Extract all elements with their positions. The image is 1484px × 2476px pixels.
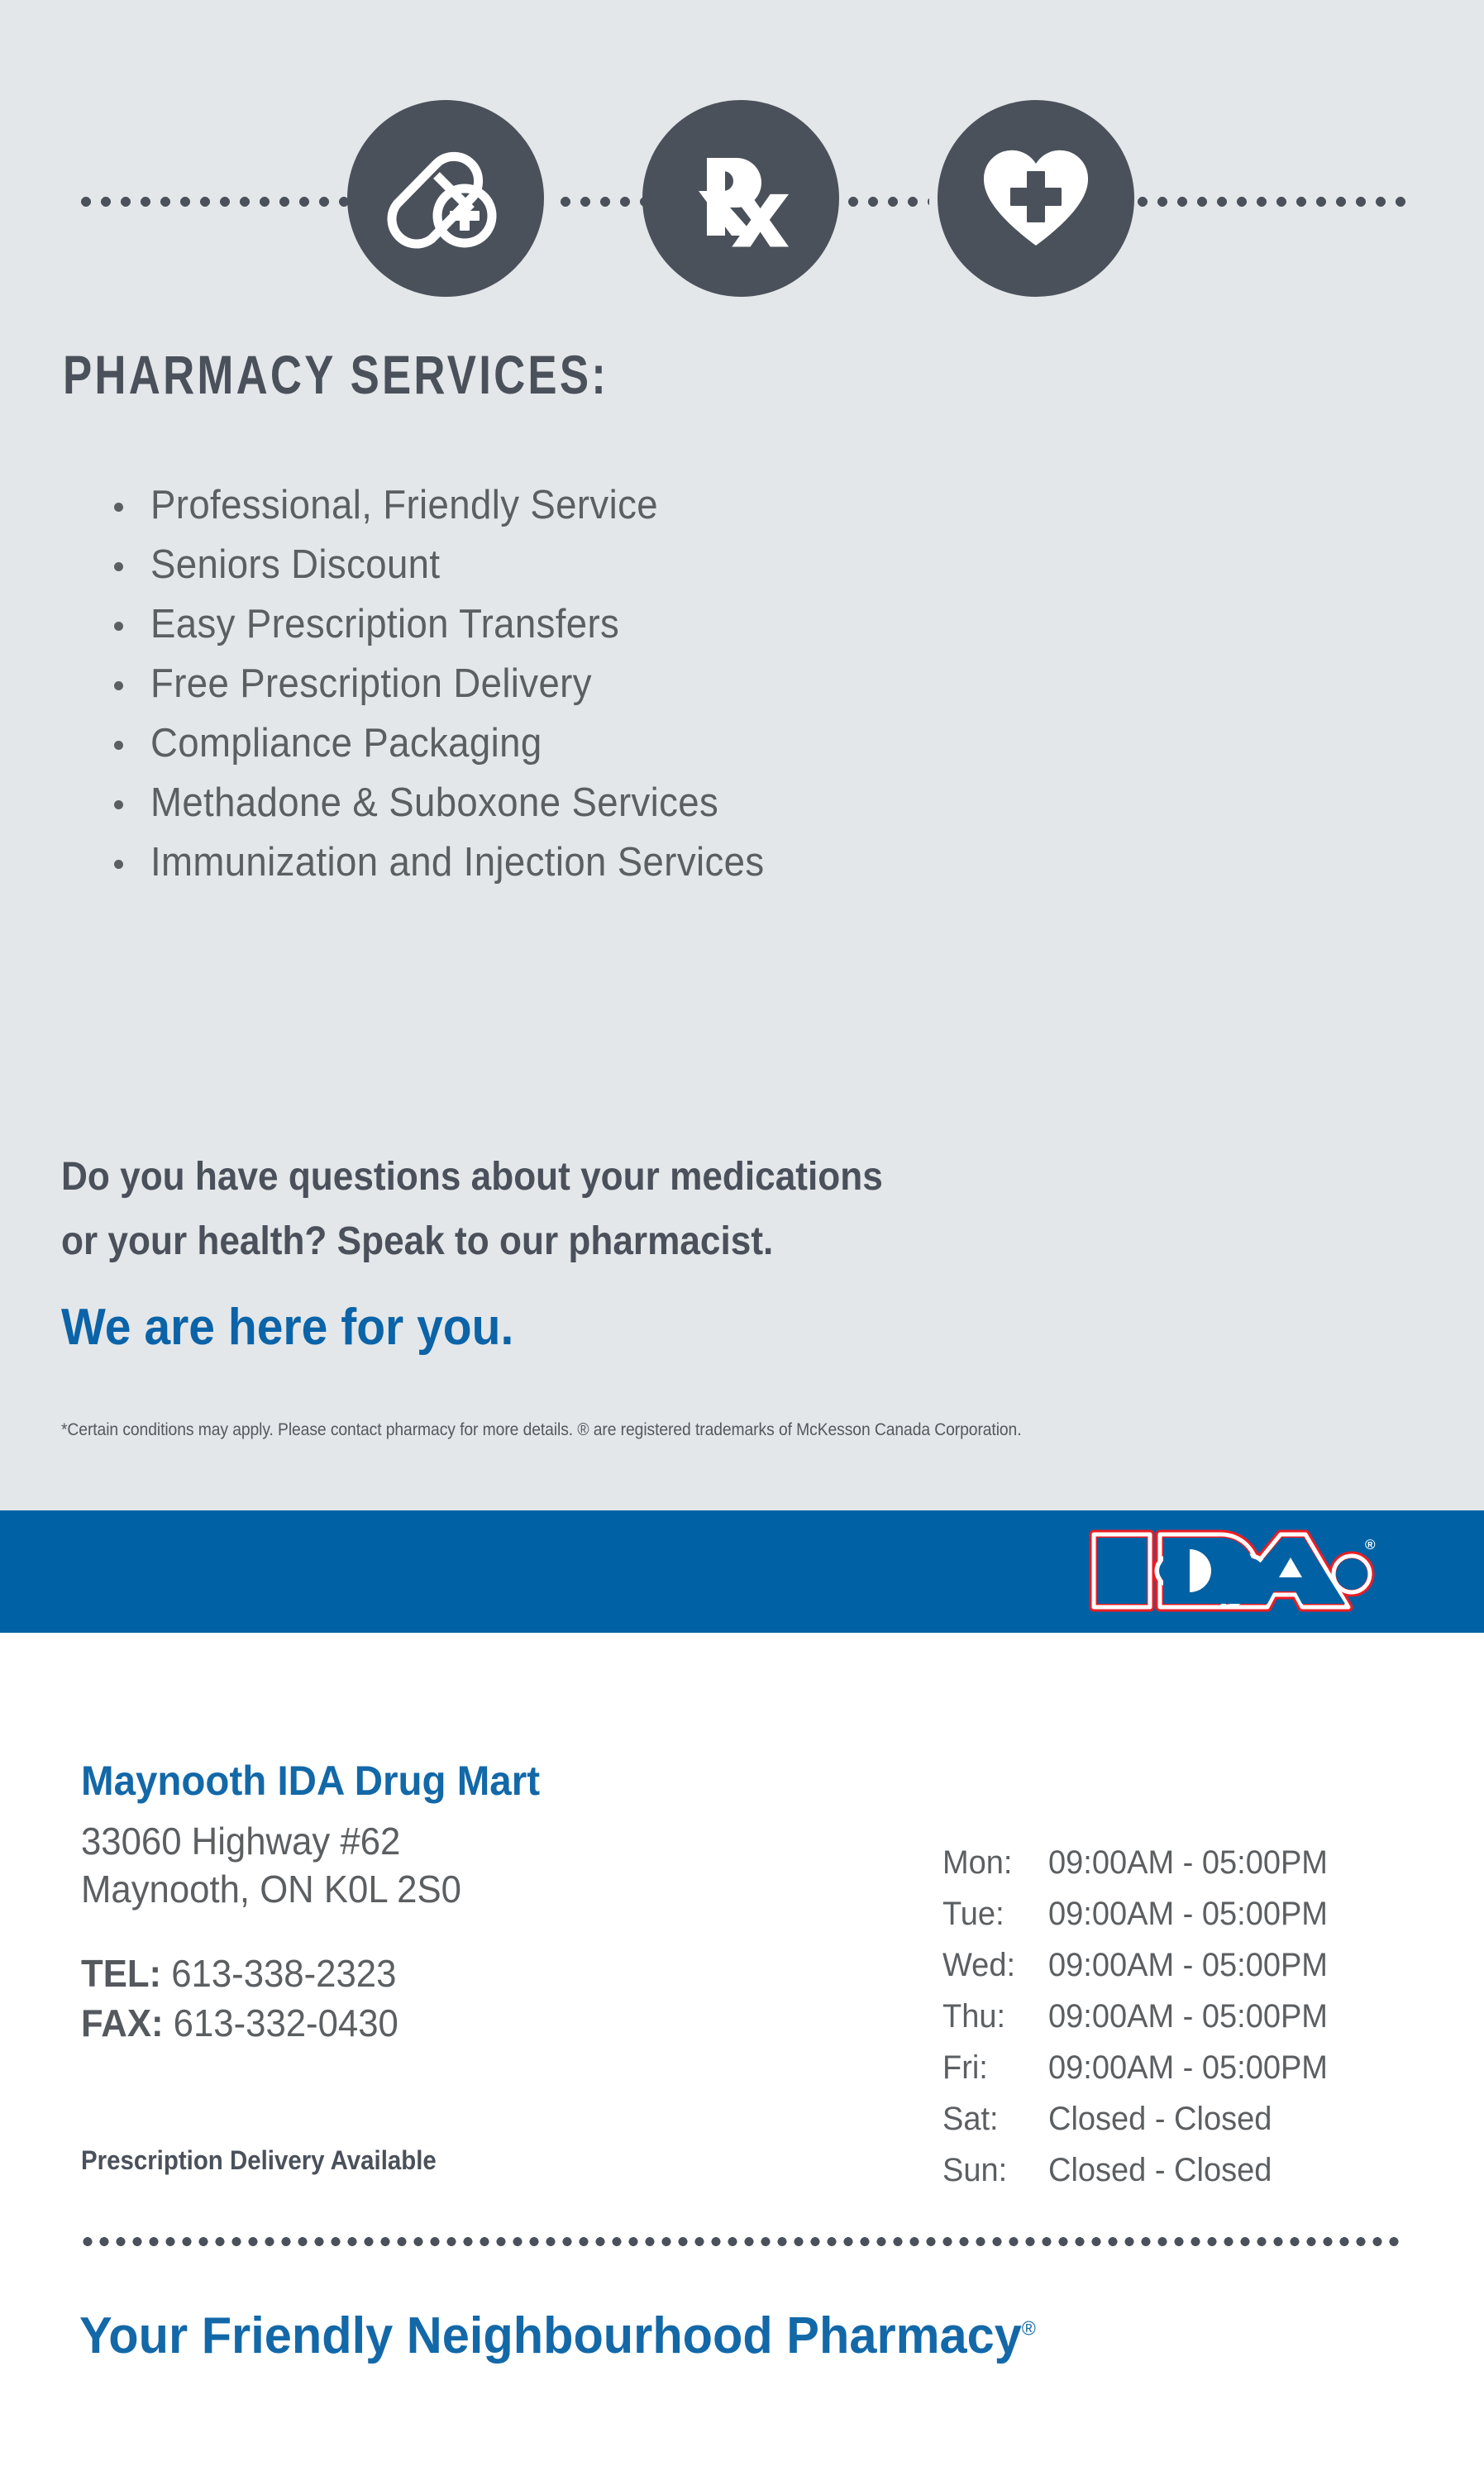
hours-time-label: 09:00AM - 05:00PM [1048,1939,1328,1991]
table-row: Fri: 09:00AM - 05:00PM [942,2042,1343,2093]
hours-day-label: Tue: [942,1888,1004,1939]
hours-time: 09:00AM - 05:00PM [1048,1991,1343,2042]
hours-time-label: Closed - Closed [1048,2144,1272,2196]
pharmacist-question-block: Do you have questions about your medicat… [61,1145,1301,1274]
dotted-rule-left [76,197,351,207]
service-label: Immunization and Injection Services [150,832,765,892]
list-item: Immunization and Injection Services [106,832,810,892]
dotted-rule-mid-left [556,197,648,207]
question-line-2: or your health? Speak to our pharmacist. [61,1209,1202,1274]
ida-logo: ® [1086,1521,1383,1620]
hours-day: Sun: [942,2144,1048,2196]
hours-time: Closed - Closed [1048,2144,1343,2196]
tel-value: 613-338-2323 [171,1952,396,1995]
footer-tagline: Your Friendly Neighbourhood Pharmacy® [79,2307,1036,2365]
rx-prescription-icon [642,100,839,297]
hours-day: Sat: [942,2093,1048,2144]
table-row: Tue: 09:00AM - 05:00PM [942,1888,1343,1939]
table-row: Thu: 09:00AM - 05:00PM [942,1991,1343,2042]
hours-day-label: Sat: [942,2093,999,2144]
store-address-line-2: Maynooth, ON K0L 2S0 [81,1867,461,1911]
question-line-1: Do you have questions about your medicat… [61,1145,1202,1209]
hours-day-label: Mon: [942,1837,1012,1888]
list-item: Easy Prescription Transfers [106,594,810,654]
hours-time: Closed - Closed [1048,2093,1343,2144]
hours-day: Mon: [942,1837,1048,1888]
hours-day: Tue: [942,1888,1048,1939]
hours-time: 09:00AM - 05:00PM [1048,2042,1343,2093]
store-hours-table: Mon: 09:00AM - 05:00PM Tue: 09:00AM - 05… [942,1837,1343,2196]
list-item: Free Prescription Delivery [106,654,810,713]
hours-day-label: Sun: [942,2144,1007,2196]
table-row: Sun: Closed - Closed [942,2144,1343,2196]
tel-label: TEL: [81,1952,161,1995]
fax-value: 613-332-0430 [174,2001,398,2044]
list-item: Seniors Discount [106,535,810,594]
store-fax: FAX: 613-332-0430 [81,2001,398,2045]
fax-label: FAX: [81,2001,164,2044]
hours-day: Fri: [942,2042,1048,2093]
legal-disclaimer: *Certain conditions may apply. Please co… [61,1420,1022,1440]
page-title: PHARMACY SERVICES: [63,343,608,406]
service-label: Easy Prescription Transfers [150,594,619,654]
store-address-line-1: 33060 Highway #62 [81,1819,400,1863]
store-name: Maynooth IDA Drug Mart [81,1757,540,1805]
footer-dotted-divider [79,2237,1402,2246]
hours-day: Wed: [942,1939,1048,1991]
delivery-note: Prescription Delivery Available [81,2145,437,2176]
service-label: Professional, Friendly Service [150,475,658,535]
hours-time: 09:00AM - 05:00PM [1048,1939,1343,1991]
hours-day-label: Wed: [942,1939,1015,1991]
table-row: Wed: 09:00AM - 05:00PM [942,1939,1343,1991]
table-row: Mon: 09:00AM - 05:00PM [942,1837,1343,1888]
dotted-rule-right [1133,197,1405,207]
pill-capsule-plus-icon [347,100,544,297]
heart-plus-icon [938,100,1134,297]
list-item: Professional, Friendly Service [106,475,810,535]
hours-day: Thu: [942,1991,1048,2042]
hours-day-label: Fri: [942,2042,988,2093]
hours-time: 09:00AM - 05:00PM [1048,1888,1343,1939]
hours-time-label: 09:00AM - 05:00PM [1048,1991,1328,2042]
dotted-rule-mid-right [843,197,929,207]
hours-time-label: 09:00AM - 05:00PM [1048,1837,1328,1888]
table-row: Sat: Closed - Closed [942,2093,1343,2144]
here-for-you-tagline: We are here for you. [61,1298,513,1357]
store-telephone: TEL: 613-338-2323 [81,1951,396,1996]
list-item: Methadone & Suboxone Services [106,773,810,832]
pharmacy-services-list: Professional, Friendly Service Seniors D… [106,475,810,892]
service-label: Methadone & Suboxone Services [150,773,718,832]
list-item: Compliance Packaging [106,713,810,773]
pharmacy-services-panel: PHARMACY SERVICES: Professional, Friendl… [0,0,1484,1510]
hours-time-label: 09:00AM - 05:00PM [1048,1888,1328,1939]
hours-time-label: Closed - Closed [1048,2093,1272,2144]
footer-tagline-text: Your Friendly Neighbourhood Pharmacy [79,2307,1022,2364]
service-label: Compliance Packaging [150,713,542,773]
logo-trademark-symbol: ® [1365,1537,1376,1553]
hours-time-label: 09:00AM - 05:00PM [1048,2042,1328,2093]
service-label: Seniors Discount [150,535,440,594]
tagline-trademark-symbol: ® [1022,2317,1036,2340]
hours-day-label: Thu: [942,1991,1005,2042]
service-label: Free Prescription Delivery [150,654,592,713]
hours-time: 09:00AM - 05:00PM [1048,1837,1343,1888]
icon-strip [0,91,1484,306]
